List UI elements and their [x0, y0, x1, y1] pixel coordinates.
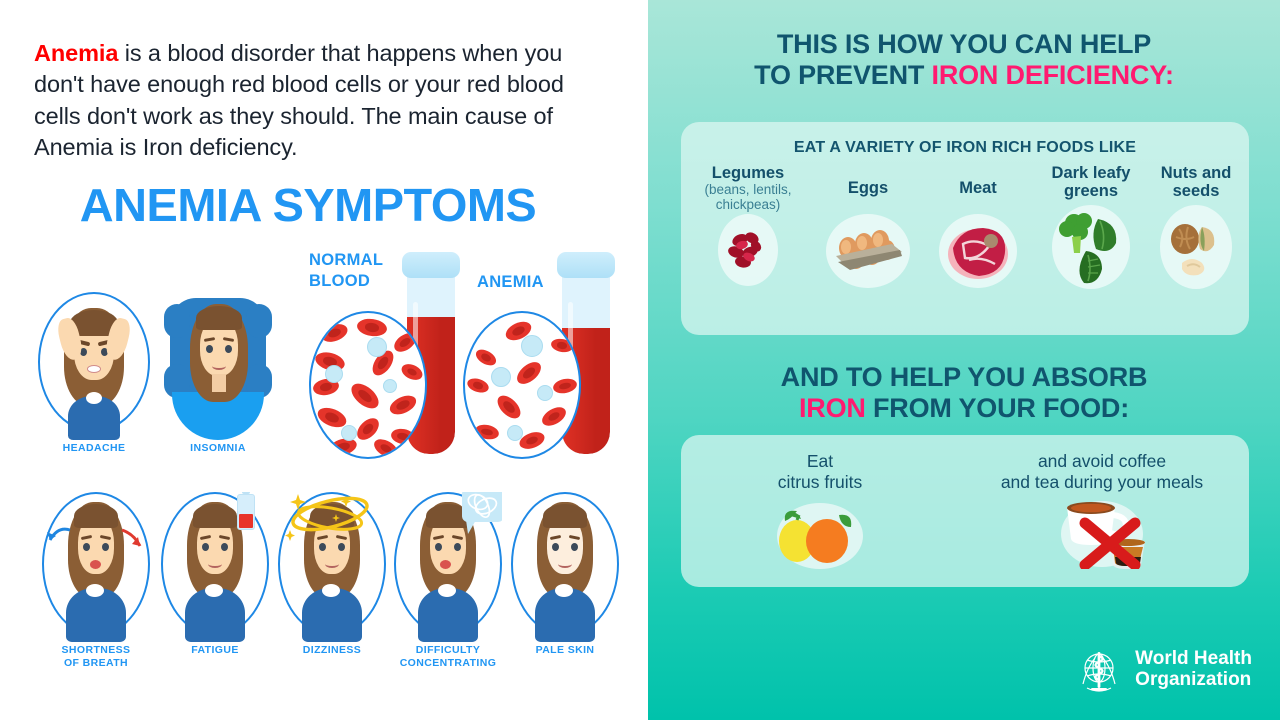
citrus-fruits-icon [765, 501, 875, 571]
who-logo: World Health Organization [1073, 644, 1252, 696]
pale-skin-icon [511, 492, 619, 642]
prevent-heading-line2: TO PREVENT IRON DEFICIENCY: [662, 60, 1266, 91]
who-line2: Organization [1135, 670, 1252, 691]
absorb-heading: AND TO HELP YOU ABSORB IRON FROM YOUR FO… [662, 362, 1266, 425]
food-name: Meat [924, 179, 1032, 197]
left-panel: Anemia is a blood disorder that happens … [0, 0, 648, 720]
food-name: Eggs [814, 179, 922, 197]
absorb-item-citrus: Eat citrus fruits [725, 451, 915, 571]
steak-icon [939, 214, 1017, 288]
food-item-nuts-and-seeds: Nuts and seeds [1147, 164, 1245, 289]
absorb-text: Eat citrus fruits [725, 451, 915, 493]
leafy-greens-icon [1052, 205, 1130, 289]
normal-blood-label: NORMAL BLOOD [309, 250, 383, 291]
dizziness-stars-icon [278, 492, 386, 558]
right-panel: THIS IS HOW YOU CAN HELP TO PREVENT IRON… [648, 0, 1280, 720]
prevent-heading-line1: THIS IS HOW YOU CAN HELP [662, 29, 1266, 60]
blood-comparison-illustration: NORMAL BLOOD ANEMIA [305, 248, 640, 473]
food-item-meat: Meat [924, 179, 1032, 288]
absorb-item-no-coffee-tea: and avoid coffee and tea during your mea… [971, 451, 1233, 569]
food-subtext: (beans, lentils, chickpeas) [689, 182, 807, 212]
foods-card-subtitle: EAT A VARIETY OF IRON RICH FOODS LIKE [681, 139, 1249, 157]
dizziness-icon [278, 492, 386, 642]
absorb-heading-line2: IRON FROM YOUR FOOD: [662, 393, 1266, 424]
food-name: Nuts and seeds [1147, 164, 1245, 200]
shortness-of-breath-icon [42, 492, 150, 642]
insomnia-icon [162, 292, 274, 444]
symptom-label: HEADACHE [24, 442, 164, 455]
headache-icon [38, 292, 150, 440]
infographic-page: Anemia is a blood disorder that happens … [0, 0, 1280, 720]
who-logo-text: World Health Organization [1135, 649, 1252, 690]
iron-absorption-card: Eat citrus fruits and avoid coffee and t… [681, 435, 1249, 587]
absorb-heading-line1: AND TO HELP YOU ABSORB [662, 362, 1266, 393]
symptom-headache: HEADACHE [32, 292, 156, 482]
symptom-dizziness: DIZZINESS [272, 492, 392, 682]
normal-blood-cells-circle [309, 311, 427, 459]
prevent-heading: THIS IS HOW YOU CAN HELP TO PREVENT IRON… [662, 29, 1266, 92]
egg-carton-icon [826, 214, 910, 288]
difficulty-concentrating-icon [394, 492, 502, 642]
no-coffee-tea-icon [1037, 499, 1167, 569]
breath-arrows-icon [42, 492, 150, 642]
food-item-legumes: Legumes (beans, lentils, chickpeas) [689, 164, 807, 286]
symptom-label: PALE SKIN [495, 644, 635, 657]
fatigue-icon [161, 492, 269, 642]
food-item-dark-leafy-greens: Dark leafy greens [1033, 164, 1149, 289]
symptom-shortness-of-breath: SHORTNESS OF BREATH [36, 492, 156, 682]
iron-rich-foods-card: EAT A VARIETY OF IRON RICH FOODS LIKE Le… [681, 122, 1249, 335]
who-line1: World Health [1135, 649, 1252, 670]
food-item-eggs: Eggs [814, 179, 922, 288]
intro-paragraph: Anemia is a blood disorder that happens … [34, 38, 614, 163]
anemia-blood-label: ANEMIA [477, 272, 544, 293]
food-name: Dark leafy greens [1033, 164, 1149, 200]
who-emblem-icon [1073, 644, 1125, 696]
symptom-insomnia: INSOMNIA [156, 292, 280, 482]
beans-icon [718, 214, 778, 286]
symptom-pale-skin: PALE SKIN [505, 492, 625, 682]
scribble-icon [464, 492, 502, 520]
symptom-fatigue: FATIGUE [155, 492, 275, 682]
symptom-difficulty-concentrating: DIFFICULTY CONCENTRATING [388, 492, 508, 682]
nuts-seeds-icon [1160, 205, 1232, 289]
food-name: Legumes [689, 164, 807, 182]
anemia-blood-cells-circle [463, 311, 581, 459]
absorb-text: and avoid coffee and tea during your mea… [971, 451, 1233, 493]
symptom-label: INSOMNIA [148, 442, 288, 455]
page-title: ANEMIA SYMPTOMS [22, 178, 593, 232]
intro-highlight: Anemia [34, 40, 118, 66]
